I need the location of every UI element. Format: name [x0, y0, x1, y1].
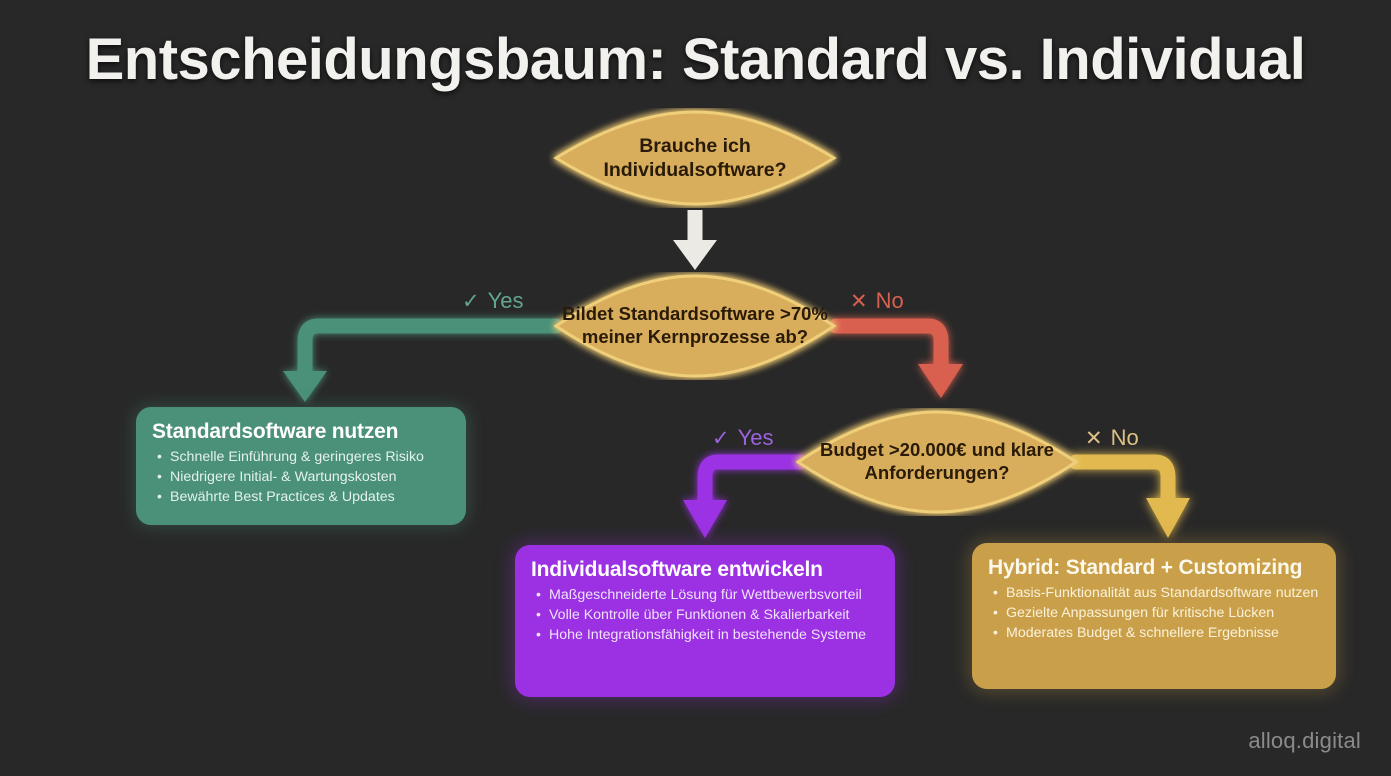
decision-node-individualsoftware[interactable]: Brauche ich Individualsoftware?: [548, 108, 842, 208]
decision-node-label: Brauche ich Individualsoftware?: [548, 134, 842, 182]
edge-d2-to-standardsoftware: [283, 326, 556, 402]
cross-icon: ✕: [850, 291, 868, 312]
list-item: Hohe Integrationsfähigkeit in bestehende…: [549, 626, 879, 645]
list-item: Basis-Funktionalität aus Standardsoftwar…: [1006, 584, 1320, 603]
list-item: Schnelle Einführung & geringeres Risiko: [170, 448, 450, 467]
outcome-title: Hybrid: Standard + Customizing: [988, 556, 1320, 580]
decision-node-budget[interactable]: Budget >20.000€ und klare Anforderungen?: [790, 408, 1084, 516]
outcome-bullet-list: Schnelle Einführung & geringeres Risiko …: [152, 448, 450, 506]
list-item: Moderates Budget & schnellere Ergebnisse: [1006, 624, 1320, 643]
edge-label-text: No: [1111, 425, 1139, 451]
decision-node-standardsoftware-abdeckung[interactable]: Bildet Standardsoftware >70% meiner Kern…: [548, 272, 842, 380]
outcome-bullet-list: Maßgeschneiderte Lösung für Wettbewerbsv…: [531, 586, 879, 644]
check-icon: ✓: [462, 291, 480, 312]
edge-label-text: No: [876, 288, 904, 314]
outcome-card-hybrid-standard-customizing[interactable]: Hybrid: Standard + Customizing Basis-Fun…: [972, 543, 1336, 689]
outcome-card-individualsoftware-entwickeln[interactable]: Individualsoftware entwickeln Maßgeschne…: [515, 545, 895, 697]
edge-label-no-budget: ✕ No: [1085, 425, 1139, 451]
check-icon: ✓: [712, 428, 730, 449]
outcome-bullet-list: Basis-Funktionalität aus Standardsoftwar…: [988, 584, 1320, 642]
edge-label-yes-standardsoftware: ✓ Yes: [462, 288, 524, 314]
outcome-title: Standardsoftware nutzen: [152, 420, 450, 444]
list-item: Bewährte Best Practices & Updates: [170, 488, 450, 507]
decision-node-label: Bildet Standardsoftware >70% meiner Kern…: [548, 303, 842, 349]
list-item: Gezielte Anpassungen für kritische Lücke…: [1006, 604, 1320, 623]
edge-d1-to-d2: [673, 210, 717, 270]
decision-node-label: Budget >20.000€ und klare Anforderungen?: [790, 439, 1084, 485]
edge-label-no-standardsoftware: ✕ No: [850, 288, 904, 314]
watermark: alloq.digital: [1248, 728, 1361, 754]
edge-d3-to-hybrid: [1076, 462, 1190, 538]
outcome-title: Individualsoftware entwickeln: [531, 558, 879, 582]
list-item: Volle Kontrolle über Funktionen & Skalie…: [549, 606, 879, 625]
edge-d3-to-individualsoftware: [683, 462, 800, 538]
edge-label-text: Yes: [738, 425, 774, 451]
edge-label-yes-budget: ✓ Yes: [712, 425, 774, 451]
list-item: Maßgeschneiderte Lösung für Wettbewerbsv…: [549, 586, 879, 605]
list-item: Niedrigere Initial- & Wartungskosten: [170, 468, 450, 487]
outcome-card-standardsoftware-nutzen[interactable]: Standardsoftware nutzen Schnelle Einführ…: [136, 407, 466, 525]
edge-d2-to-budget: [836, 326, 963, 398]
edge-label-text: Yes: [488, 288, 524, 314]
decision-tree-canvas: Entscheidungsbaum: Standard vs. Individu…: [0, 0, 1391, 776]
cross-icon: ✕: [1085, 428, 1103, 449]
page-title: Entscheidungsbaum: Standard vs. Individu…: [0, 26, 1391, 93]
